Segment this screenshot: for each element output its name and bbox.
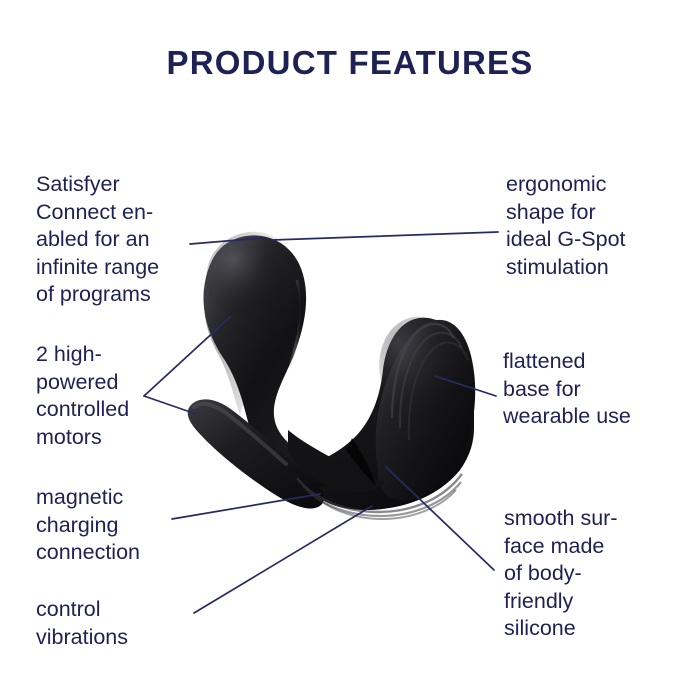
leader-line-control bbox=[194, 506, 372, 613]
product-features-infographic: PRODUCT FEATURES bbox=[0, 0, 700, 700]
leader-line-ergonomic bbox=[272, 232, 498, 240]
leader-line-motors bbox=[144, 317, 230, 396]
leader-line-connect bbox=[190, 238, 263, 244]
leader-lines bbox=[0, 0, 700, 700]
leader-line-motors-branch bbox=[144, 396, 196, 414]
leader-line-magnetic bbox=[172, 494, 320, 519]
leader-line-smooth bbox=[386, 467, 494, 570]
leader-line-flattened bbox=[435, 376, 496, 396]
